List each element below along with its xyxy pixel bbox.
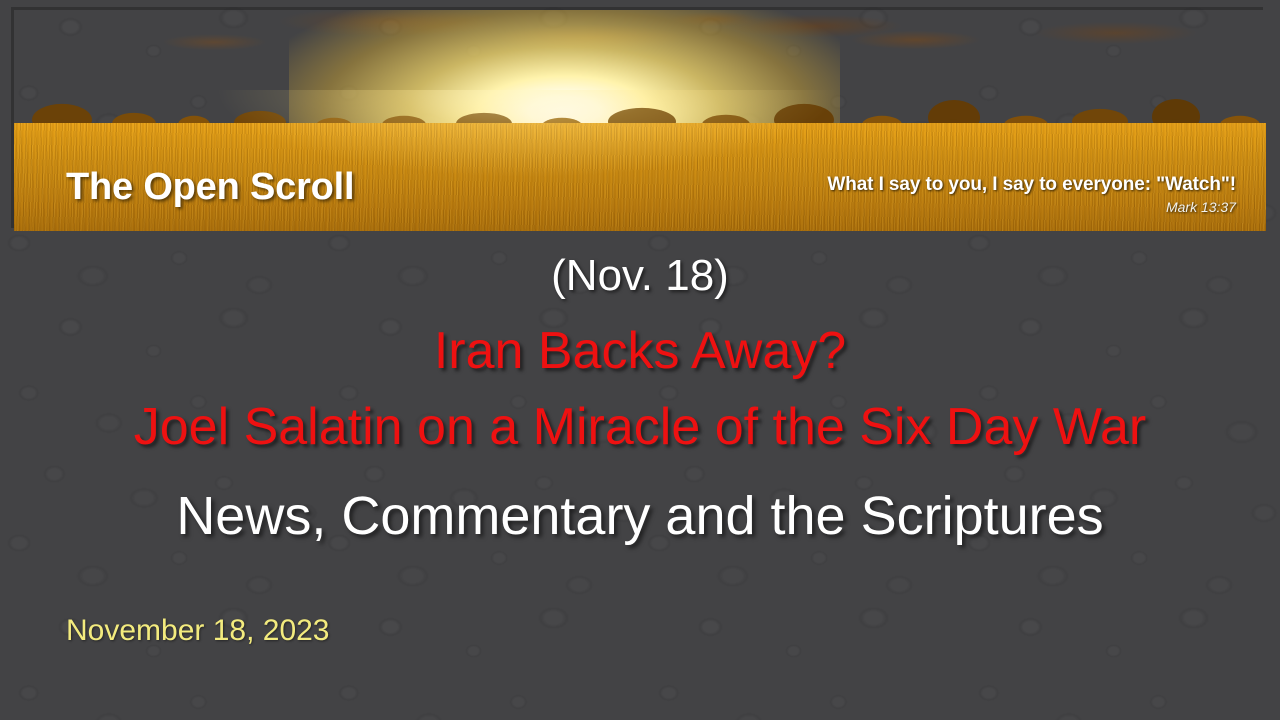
slide-content: (Nov. 18) Iran Backs Away? Joel Salatin … xyxy=(0,231,1280,720)
slide-headline-primary: Iran Backs Away? xyxy=(0,324,1280,379)
banner-tagline: What I say to you, I say to everyone: "W… xyxy=(827,174,1236,196)
site-banner: The Open Scroll What I say to you, I say… xyxy=(14,10,1266,231)
site-title: The Open Scroll xyxy=(66,166,354,209)
slide-subtitle: News, Commentary and the Scriptures xyxy=(0,488,1280,545)
sun-ray-glow xyxy=(214,90,840,178)
slide-headline-secondary: Joel Salatin on a Miracle of the Six Day… xyxy=(0,400,1280,455)
slide-kicker: (Nov. 18) xyxy=(0,253,1280,299)
slide-date: November 18, 2023 xyxy=(66,615,330,647)
banner-scripture-reference: Mark 13:37 xyxy=(827,199,1236,215)
presentation-slide: The Open Scroll What I say to you, I say… xyxy=(0,0,1280,720)
banner-tagline-group: What I say to you, I say to everyone: "W… xyxy=(827,174,1236,215)
